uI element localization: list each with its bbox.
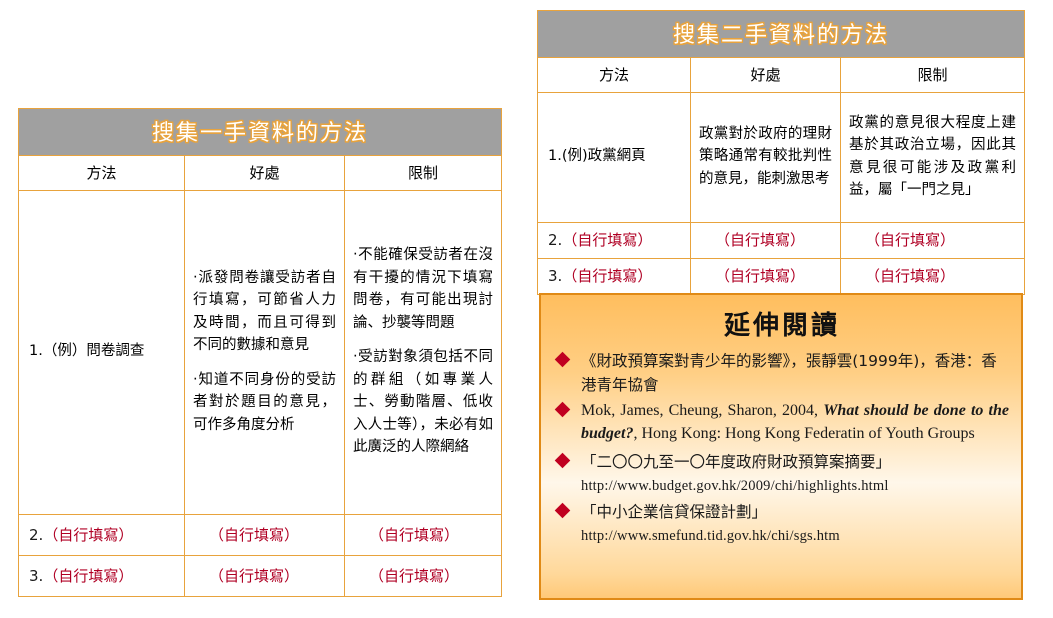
row-index: 2. bbox=[29, 526, 43, 544]
reference-text: 「中小企業信貸保證計劃」 bbox=[581, 503, 767, 521]
secondary-row2-limits[interactable]: （自行填寫） bbox=[841, 223, 1025, 259]
primary-header-benefits: 好處 bbox=[185, 156, 345, 191]
table-row: 1.（例）問卷調查 ‧派發問卷讓受訪者自行填寫，可節省人力及時間，而且可得到不同… bbox=[19, 191, 502, 515]
secondary-row2-method[interactable]: 2.（自行填寫） bbox=[538, 223, 691, 259]
secondary-row3-method[interactable]: 3.（自行填寫） bbox=[538, 259, 691, 295]
reference-url[interactable]: http://www.smefund.tid.gov.hk/chi/sgs.ht… bbox=[581, 526, 1009, 547]
blank-placeholder: （自行填寫） bbox=[43, 567, 133, 585]
secondary-row3-limits[interactable]: （自行填寫） bbox=[841, 259, 1025, 295]
limit-paragraph: ‧不能確保受訪者在沒有干擾的情況下填寫問卷，有可能出現討論、抄襲等問題 bbox=[353, 244, 493, 334]
secondary-header-limits: 限制 bbox=[841, 58, 1025, 93]
primary-row3-limits[interactable]: （自行填寫） bbox=[345, 556, 502, 597]
further-reading-item-2: Mok, James, Cheung, Sharon, 2004, What s… bbox=[555, 400, 1009, 445]
blank-placeholder: （自行填寫） bbox=[43, 526, 133, 544]
secondary-header-benefits: 好處 bbox=[691, 58, 841, 93]
primary-row3-benefits[interactable]: （自行填寫） bbox=[185, 556, 345, 597]
primary-row1-method: 1.（例）問卷調查 bbox=[19, 191, 185, 515]
table-row: 3.（自行填寫） （自行填寫） （自行填寫） bbox=[19, 556, 502, 597]
table-row: 3.（自行填寫） （自行填寫） （自行填寫） bbox=[538, 259, 1025, 295]
reference-text: 《財政預算案對青少年的影響》，張靜雲(1999年)，香港：香港青年協會 bbox=[581, 352, 997, 394]
primary-row1-limits: ‧不能確保受訪者在沒有干擾的情況下填寫問卷，有可能出現討論、抄襲等問題 ‧受訪對… bbox=[345, 191, 502, 515]
primary-header-limits: 限制 bbox=[345, 156, 502, 191]
primary-header-method: 方法 bbox=[19, 156, 185, 191]
benefit-paragraph: ‧知道不同身份的受訪者對於題目的意見，可作多角度分析 bbox=[193, 369, 336, 436]
primary-row2-benefits[interactable]: （自行填寫） bbox=[185, 515, 345, 556]
further-reading-title: 延伸閱讀 bbox=[555, 305, 1009, 342]
secondary-row3-benefits[interactable]: （自行填寫） bbox=[691, 259, 841, 295]
reference-prefix: Mok, James, Cheung, Sharon, 2004, bbox=[581, 402, 823, 419]
further-reading-item-1: 《財政預算案對青少年的影響》，張靜雲(1999年)，香港：香港青年協會 bbox=[555, 350, 1009, 397]
diamond-bullet-icon bbox=[555, 352, 571, 368]
secondary-data-table: 搜集二手資料的方法 方法 好處 限制 1.(例)政黨網頁 政黨對於政府的理財策略… bbox=[537, 10, 1025, 295]
table-header-row: 方法 好處 限制 bbox=[19, 156, 502, 191]
secondary-row2-benefits[interactable]: （自行填寫） bbox=[691, 223, 841, 259]
secondary-row1-method: 1.(例)政黨網頁 bbox=[538, 93, 691, 223]
secondary-table-title: 搜集二手資料的方法 bbox=[538, 11, 1025, 58]
primary-table-title: 搜集一手資料的方法 bbox=[19, 109, 502, 156]
further-reading-item-3: 「二〇〇九至一〇年度政府財政預算案摘要」 http://www.budget.g… bbox=[555, 451, 1009, 496]
secondary-row1-benefits: 政黨對於政府的理財策略通常有較批判性的意見，能刺激思考 bbox=[691, 93, 841, 223]
further-reading-box: 延伸閱讀 《財政預算案對青少年的影響》，張靜雲(1999年)，香港：香港青年協會… bbox=[539, 293, 1023, 600]
primary-row1-benefits: ‧派發問卷讓受訪者自行填寫，可節省人力及時間，而且可得到不同的數據和意見 ‧知道… bbox=[185, 191, 345, 515]
blank-placeholder: （自行填寫） bbox=[562, 267, 652, 285]
secondary-row1-limits: 政黨的意見很大程度上建基於其政治立場，因此其意見很可能涉及政黨利益，屬「一門之見… bbox=[841, 93, 1025, 223]
table-title-row: 搜集二手資料的方法 bbox=[538, 11, 1025, 58]
table-row: 2.（自行填寫） （自行填寫） （自行填寫） bbox=[538, 223, 1025, 259]
row-index: 3. bbox=[548, 267, 562, 285]
diamond-bullet-icon bbox=[555, 503, 571, 519]
primary-data-table: 搜集一手資料的方法 方法 好處 限制 1.（例）問卷調查 ‧派發問卷讓受訪者自行… bbox=[18, 108, 502, 597]
further-reading-item-4: 「中小企業信貸保證計劃」 http://www.smefund.tid.gov.… bbox=[555, 501, 1009, 546]
benefit-paragraph: ‧派發問卷讓受訪者自行填寫，可節省人力及時間，而且可得到不同的數據和意見 bbox=[193, 267, 336, 357]
reference-text: 「二〇〇九至一〇年度政府財政預算案摘要」 bbox=[581, 453, 891, 471]
diamond-bullet-icon bbox=[555, 453, 571, 469]
reference-suffix: , Hong Kong: Hong Kong Federatin of Yout… bbox=[633, 425, 974, 442]
row-index: 3. bbox=[29, 567, 43, 585]
primary-row2-method[interactable]: 2.（自行填寫） bbox=[19, 515, 185, 556]
secondary-header-method: 方法 bbox=[538, 58, 691, 93]
table-header-row: 方法 好處 限制 bbox=[538, 58, 1025, 93]
blank-placeholder: （自行填寫） bbox=[562, 231, 652, 249]
primary-row3-method[interactable]: 3.（自行填寫） bbox=[19, 556, 185, 597]
row-index: 2. bbox=[548, 231, 562, 249]
table-row: 2.（自行填寫） （自行填寫） （自行填寫） bbox=[19, 515, 502, 556]
limit-paragraph: ‧受訪對象須包括不同的群組（如專業人士、勞動階層、低收入人士等），未必有如此廣泛… bbox=[353, 346, 493, 458]
reference-url[interactable]: http://www.budget.gov.hk/2009/chi/highli… bbox=[581, 476, 1009, 497]
diamond-bullet-icon bbox=[555, 402, 571, 418]
table-title-row: 搜集一手資料的方法 bbox=[19, 109, 502, 156]
primary-row2-limits[interactable]: （自行填寫） bbox=[345, 515, 502, 556]
table-row: 1.(例)政黨網頁 政黨對於政府的理財策略通常有較批判性的意見，能刺激思考 政黨… bbox=[538, 93, 1025, 223]
